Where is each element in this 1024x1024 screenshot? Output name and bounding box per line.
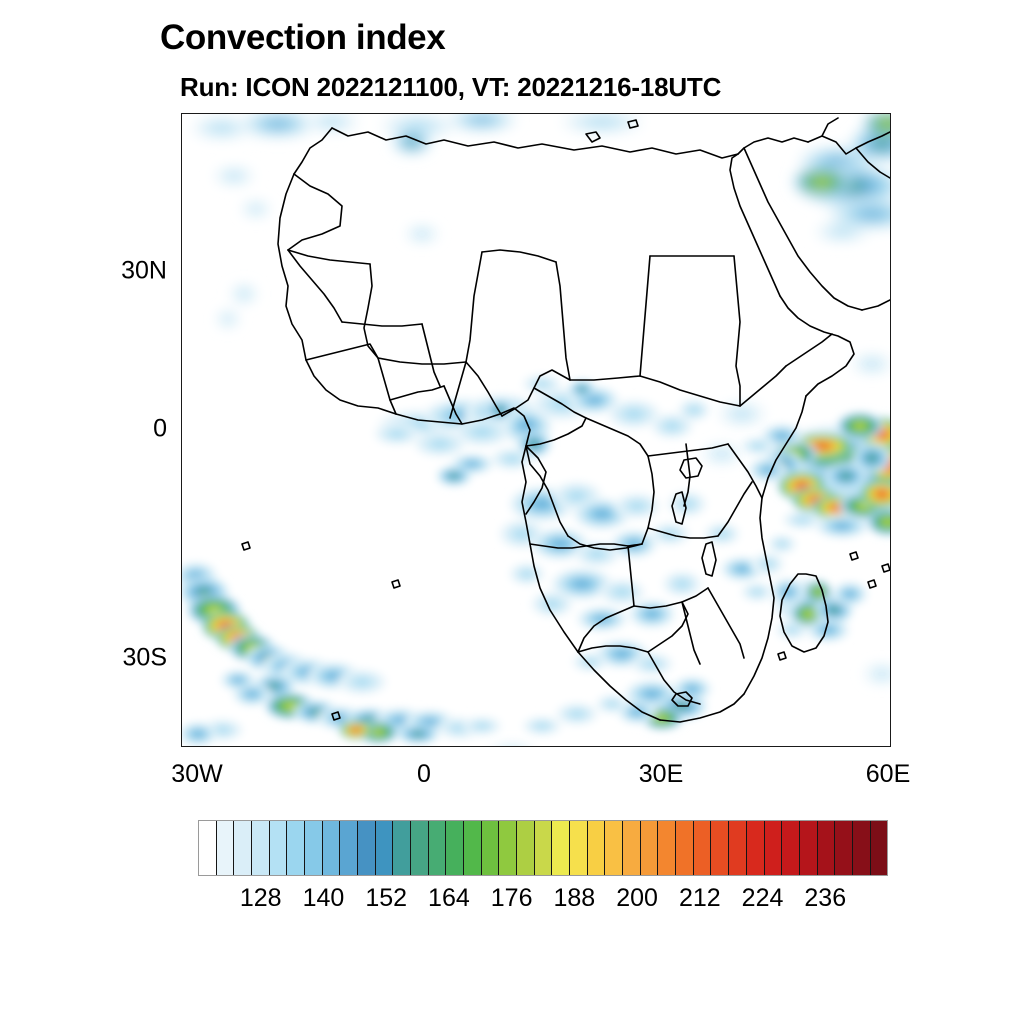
colorbar-cell[interactable] (464, 821, 482, 875)
colorbar-cell[interactable] (570, 821, 588, 875)
colorbar-cell[interactable] (853, 821, 871, 875)
colorbar-cell[interactable] (711, 821, 729, 875)
xtick-top-10w (339, 113, 341, 114)
xtick-top-20e (575, 113, 577, 114)
colorbar-cell[interactable] (782, 821, 800, 875)
xtick-label-0: 0 (417, 760, 431, 789)
colorbar-tick-label: 200 (616, 884, 658, 913)
colorbar-cell[interactable] (411, 821, 429, 875)
ytick-label-0: 0 (105, 415, 167, 444)
colorbar-cell[interactable] (376, 821, 394, 875)
colorbar-cell[interactable] (747, 821, 765, 875)
ytick-20n (181, 362, 182, 363)
colorbar-tick-label: 176 (491, 884, 533, 913)
xtick-top-0 (418, 113, 420, 114)
colorbar-tick-label: 236 (804, 884, 846, 913)
xtick-60e (888, 746, 890, 747)
xtick-20w (261, 746, 262, 747)
colorbar-cell[interactable] (217, 821, 235, 875)
colorbar-cell[interactable] (818, 821, 836, 875)
colorbar-cell[interactable] (800, 821, 818, 875)
colorbar-cell[interactable] (623, 821, 641, 875)
colorbar-cell[interactable] (358, 821, 376, 875)
colorbar-tick-label: 188 (554, 884, 596, 913)
xtick-top-40e (733, 113, 735, 114)
xtick-0 (418, 746, 420, 747)
xtick-40e (733, 746, 734, 747)
xtick-top-50e (811, 113, 813, 114)
colorbar-cell[interactable] (393, 821, 411, 875)
xtick-10w (339, 746, 340, 747)
colorbar-cell[interactable] (446, 821, 464, 875)
colorbar-cell[interactable] (482, 821, 500, 875)
page-title: Convection index (160, 18, 445, 58)
colorbar-cell[interactable] (429, 821, 447, 875)
colorbar-cell[interactable] (729, 821, 747, 875)
colorbar-tick-label: 152 (365, 884, 407, 913)
colorbar-cells[interactable] (198, 820, 888, 876)
colorbar-cell[interactable] (287, 821, 305, 875)
xtick-top-20w (261, 113, 263, 114)
colorbar-cell[interactable] (765, 821, 783, 875)
colorbar-cell[interactable] (552, 821, 570, 875)
xtick-label-30w: 30W (171, 760, 222, 789)
xtick-30e (654, 746, 656, 747)
xtick-top-60e (888, 113, 890, 114)
ytick-label-30s: 30S (105, 644, 167, 673)
colorbar-tick-label: 164 (428, 884, 470, 913)
colorbar-tick-label: 140 (303, 884, 345, 913)
colorbar-cell[interactable] (199, 821, 217, 875)
ytick-30n (181, 272, 182, 274)
colorbar-cell[interactable] (871, 821, 888, 875)
ytick-20s (181, 588, 182, 589)
colorbar-cell[interactable] (323, 821, 341, 875)
xtick-top-30e (654, 113, 656, 114)
colorbar-cell[interactable] (305, 821, 323, 875)
colorbar-cell[interactable] (340, 821, 358, 875)
colorbar-tick-labels: 128140152164176188200212224236 (198, 884, 888, 918)
colorbar-cell[interactable] (605, 821, 623, 875)
xtick-label-30e: 30E (639, 760, 683, 789)
colorbar-cell[interactable] (252, 821, 270, 875)
colorbar-cell[interactable] (588, 821, 606, 875)
xtick-label-60e: 60E (866, 760, 910, 789)
colorbar-tick-label: 128 (240, 884, 282, 913)
xtick-10e (497, 746, 498, 747)
colorbar-tick-label: 212 (679, 884, 721, 913)
colorbar-cell[interactable] (234, 821, 252, 875)
ytick-0 (181, 430, 182, 432)
map-plot-area[interactable] (181, 113, 891, 747)
colorbar-cell[interactable] (499, 821, 517, 875)
xtick-30w (182, 746, 184, 747)
colorbar-cell[interactable] (641, 821, 659, 875)
xtick-20e (575, 746, 576, 747)
ytick-30s (181, 659, 182, 661)
colorbar-cell[interactable] (694, 821, 712, 875)
colorbar-cell[interactable] (270, 821, 288, 875)
xtick-top-30w (182, 113, 184, 114)
ytick-10s (181, 518, 182, 519)
colorbar-cell[interactable] (835, 821, 853, 875)
ytick-label-30n: 30N (105, 257, 167, 286)
xtick-50e (811, 746, 812, 747)
colorbar-cell[interactable] (676, 821, 694, 875)
ytick-10n (181, 451, 182, 452)
colorbar-cell[interactable] (535, 821, 553, 875)
colorbar-cell[interactable] (658, 821, 676, 875)
chart-subtitle: Run: ICON 2022121100, VT: 20221216-18UTC (180, 72, 721, 103)
colorbar-cell[interactable] (517, 821, 535, 875)
map-canvas (182, 114, 890, 746)
colorbar-tick-label: 224 (742, 884, 784, 913)
colorbar[interactable] (198, 820, 888, 876)
xtick-top-10e (497, 113, 499, 114)
